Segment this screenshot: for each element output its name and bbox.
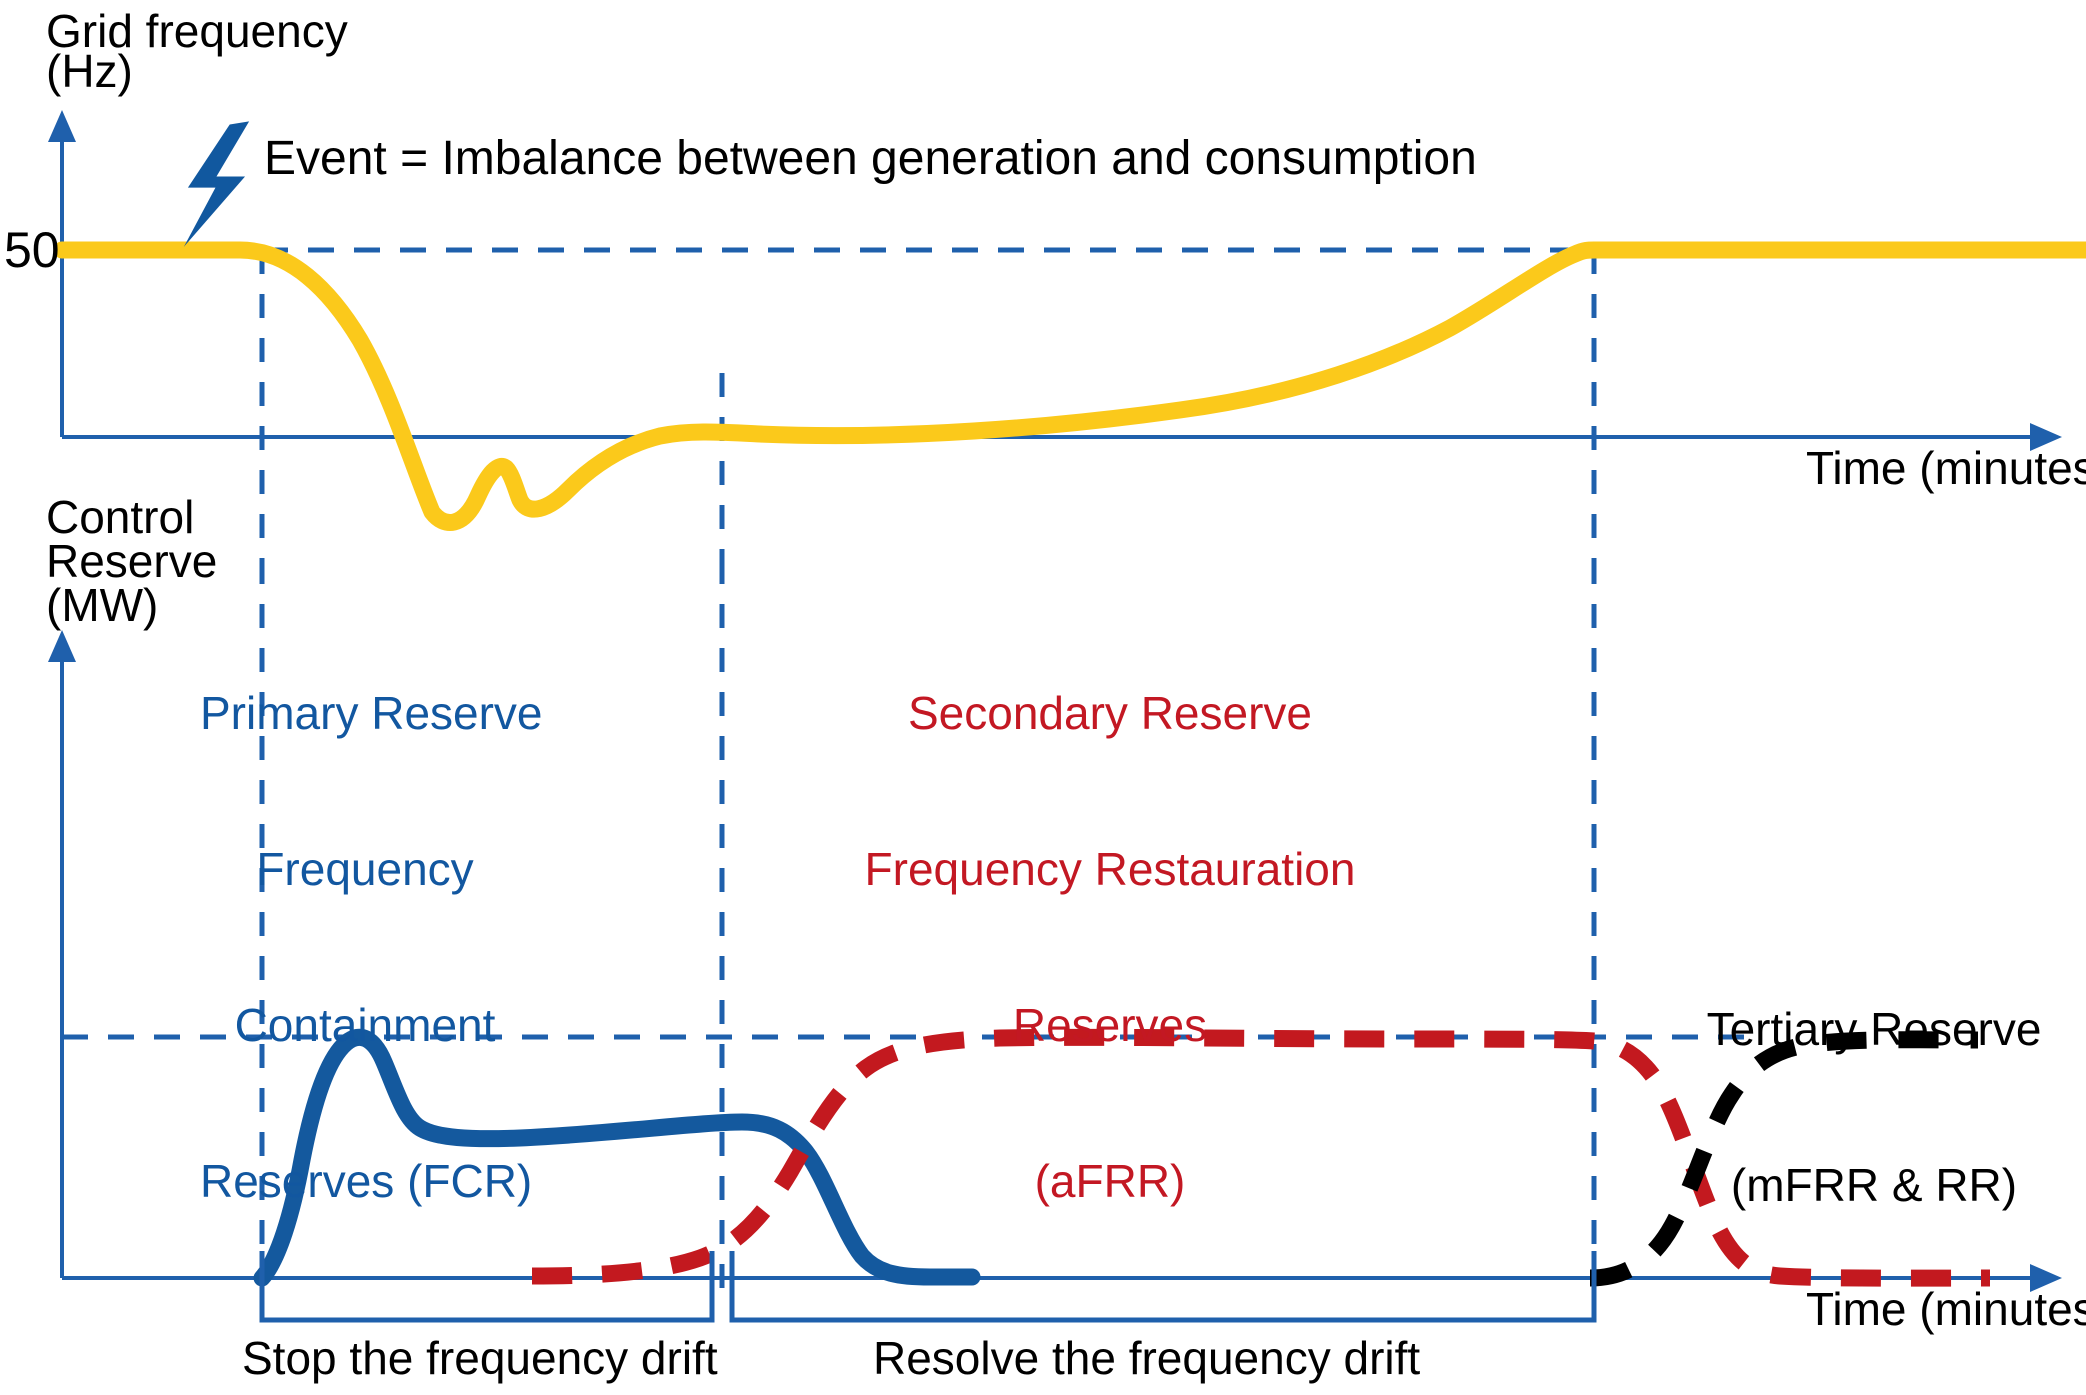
top-chart-y-axis-label-line2: (Hz): [46, 46, 133, 98]
bottom-chart-x-axis-label: Time (minutes): [1806, 1284, 2086, 1336]
series-label-fcr-line3: Containment: [200, 1000, 530, 1052]
bottom-chart-y-axis-label-line3: (MW): [46, 580, 158, 632]
bracket-label-resolve: Resolve the frequency drift: [873, 1333, 1420, 1385]
figure-canvas: Grid frequency (Hz) 50 Event = Imbalance…: [0, 0, 2086, 1395]
bottom-chart-y-axis: [48, 630, 76, 1278]
bracket-label-stop: Stop the frequency drift: [242, 1333, 718, 1385]
top-chart-x-axis-label: Time (minutes): [1806, 443, 2086, 495]
frequency-tick-label-50: 50: [4, 222, 60, 279]
series-label-mfrr-rr: Tertiary Reserve (mFRR & RR): [1682, 900, 2066, 1316]
series-label-fcr-line2: Frequency: [200, 844, 530, 896]
series-label-afrr-line3: Reserves: [860, 1000, 1360, 1052]
lightning-bolt-icon: [184, 121, 249, 246]
event-annotation-label: Event = Imbalance between generation and…: [264, 132, 1477, 186]
series-label-afrr-line2: Frequency Restauration: [860, 844, 1360, 896]
series-label-fcr-line4: Reserves (FCR): [200, 1156, 530, 1208]
series-label-fcr: Primary Reserve Frequency Containment Re…: [200, 584, 530, 1312]
series-label-mfrr-rr-line1: Tertiary Reserve: [1682, 1004, 2066, 1056]
series-label-afrr-line4: (aFRR): [860, 1156, 1360, 1208]
series-label-mfrr-rr-line2: (mFRR & RR): [1682, 1160, 2066, 1212]
series-label-afrr: Secondary Reserve Frequency Restauration…: [860, 584, 1360, 1312]
series-label-afrr-line1: Secondary Reserve: [860, 688, 1360, 740]
series-label-fcr-line1: Primary Reserve: [200, 688, 530, 740]
grid-frequency-curve: [62, 250, 2086, 523]
